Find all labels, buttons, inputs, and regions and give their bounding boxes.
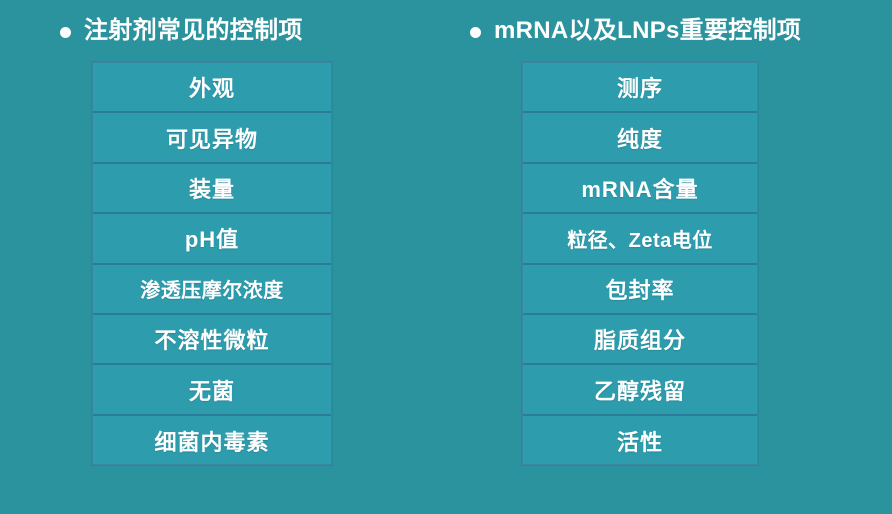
list-item[interactable]: 不溶性微粒 (93, 315, 331, 365)
list-item[interactable]: 装量 (93, 164, 331, 214)
list-box-left: 外观 可见异物 装量 pH值 渗透压摩尔浓度 不溶性微粒 无菌 细菌内毒素 (92, 62, 332, 465)
list-item[interactable]: 脂质组分 (523, 315, 757, 365)
list-item[interactable]: mRNA含量 (523, 164, 757, 214)
column-title-left: 注射剂常见的控制项 (84, 19, 303, 43)
slide-canvas: 注射剂常见的控制项 外观 可见异物 装量 pH值 渗透压摩尔浓度 不溶性微粒 无… (0, 0, 892, 514)
column-title-right: mRNA以及LNPs重要控制项 (494, 19, 801, 43)
bullet-dot-icon (470, 27, 481, 38)
bullet-dot-icon (60, 27, 71, 38)
list-item[interactable]: 乙醇残留 (523, 365, 757, 415)
list-box-right: 测序 纯度 mRNA含量 粒径、Zeta电位 包封率 脂质组分 乙醇残留 活性 (522, 62, 758, 465)
column-heading-right: mRNA以及LNPs重要控制项 (470, 0, 770, 52)
column-injection-controls: 注射剂常见的控制项 外观 可见异物 装量 pH值 渗透压摩尔浓度 不溶性微粒 无… (60, 0, 350, 52)
list-item[interactable]: 包封率 (523, 265, 757, 315)
list-item[interactable]: 活性 (523, 416, 757, 466)
column-mrna-lnp-controls: mRNA以及LNPs重要控制项 测序 纯度 mRNA含量 粒径、Zeta电位 包… (470, 0, 770, 52)
list-item[interactable]: pH值 (93, 214, 331, 264)
list-item[interactable]: 渗透压摩尔浓度 (93, 265, 331, 315)
list-item[interactable]: 细菌内毒素 (93, 416, 331, 466)
list-item[interactable]: 无菌 (93, 365, 331, 415)
list-item[interactable]: 可见异物 (93, 113, 331, 163)
list-item[interactable]: 测序 (523, 63, 757, 113)
list-item[interactable]: 外观 (93, 63, 331, 113)
list-item[interactable]: 粒径、Zeta电位 (523, 214, 757, 264)
column-heading-left: 注射剂常见的控制项 (60, 0, 350, 52)
list-item[interactable]: 纯度 (523, 113, 757, 163)
